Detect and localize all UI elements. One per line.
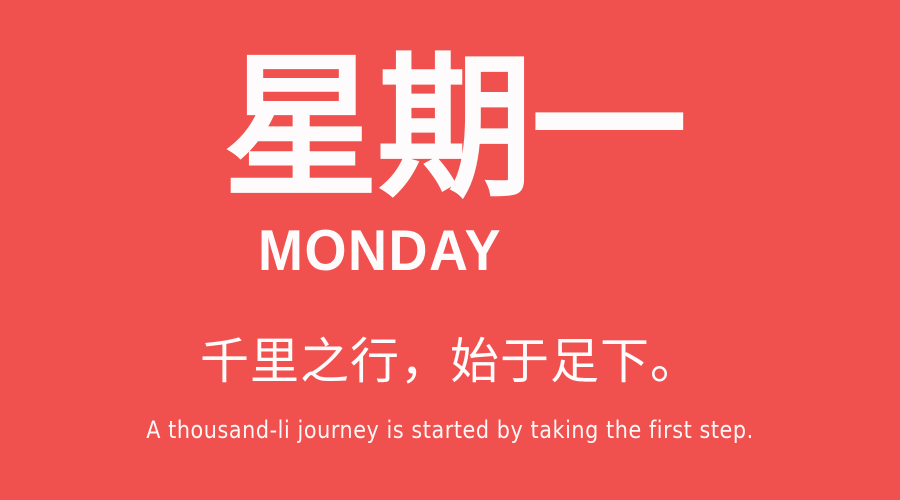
proverb-english: A thousand-li journey is started by taki… <box>18 415 882 445</box>
weekday-title-chinese: 星期一 <box>4 44 900 212</box>
proverb-chinese: 千里之行，始于足下。 <box>0 333 900 391</box>
daily-weekday-card: 星期一 MONDAY 千里之行，始于足下。 A thousand-li jour… <box>0 0 900 500</box>
weekday-title-english: MONDAY <box>0 220 830 281</box>
